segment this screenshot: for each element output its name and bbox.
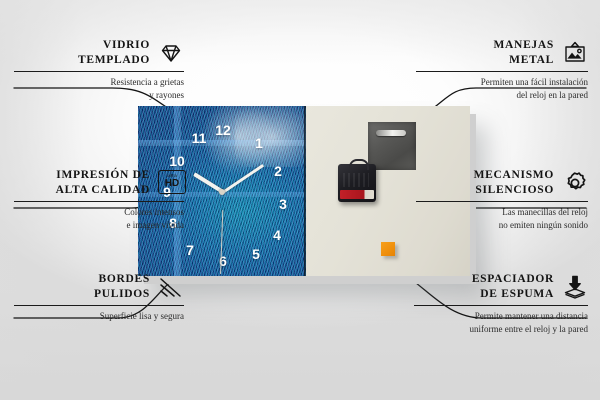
hanger-keyhole-slot xyxy=(376,130,406,136)
feature-callout-impresion-alta-calidad: ultra HD IMPRESIÓN DE ALTA CALIDAD Color… xyxy=(14,168,184,231)
foam-spacer-pad xyxy=(381,242,395,256)
ultra-hd-icon: ultra HD xyxy=(158,170,184,196)
feature-divider xyxy=(416,201,588,202)
diagonal-lines-icon xyxy=(158,274,184,300)
clock-numeral-5: 5 xyxy=(252,247,260,261)
feature-head: BORDES PULIDOS xyxy=(14,272,184,301)
feature-subtitle: Resistencia a grietas y rayones xyxy=(14,76,184,101)
clock-numeral-4: 4 xyxy=(273,228,281,242)
feature-head: MECANISMO SILENCIOSO xyxy=(416,168,588,197)
gear-icon xyxy=(562,170,588,196)
feature-subtitle: Las manecillas del reloj no emiten ningú… xyxy=(416,206,588,231)
feature-head: ultra HD IMPRESIÓN DE ALTA CALIDAD xyxy=(14,168,184,197)
infographic-canvas: 12 1 2 3 4 5 6 7 8 9 10 11 xyxy=(0,0,600,400)
picture-frame-hanger-icon xyxy=(562,40,588,66)
feature-subtitle: Colores intensos e imagen vívida xyxy=(14,206,184,231)
feature-title: IMPRESIÓN DE ALTA CALIDAD xyxy=(56,168,150,197)
clock-face-highlight xyxy=(235,106,306,167)
feature-divider xyxy=(14,71,184,72)
feature-callout-mecanismo-silencioso: MECANISMO SILENCIOSO Las manecillas del … xyxy=(416,168,588,231)
clock-numeral-3: 3 xyxy=(279,197,287,211)
clock-numeral-11: 11 xyxy=(192,131,207,145)
mechanism-body-detail xyxy=(343,173,369,187)
clock-numeral-7: 7 xyxy=(186,243,194,257)
feature-title: MANEJAS METAL xyxy=(416,38,554,67)
feature-divider xyxy=(14,201,184,202)
feature-callout-espaciador-espuma: ESPACIADOR DE ESPUMA Permite mantener un… xyxy=(414,272,588,335)
arrow-onto-layer-icon xyxy=(562,274,588,300)
feature-title: ESPACIADOR DE ESPUMA xyxy=(414,272,554,301)
feature-subtitle: Permite mantener una distancia uniforme … xyxy=(414,310,588,335)
ultra-hd-badge-bottom: HD xyxy=(165,179,179,190)
feature-title: VIDRIO TEMPLADO xyxy=(78,38,150,67)
clock-numeral-1: 1 xyxy=(255,136,263,150)
feature-divider xyxy=(414,305,588,306)
metal-hanger-plate xyxy=(368,122,416,170)
clock-center-cap xyxy=(219,189,225,195)
clock-numeral-12: 12 xyxy=(215,123,231,137)
feature-title: MECANISMO SILENCIOSO xyxy=(416,168,554,197)
ultra-hd-badge: ultra HD xyxy=(158,170,186,194)
feature-divider xyxy=(14,305,184,306)
feature-subtitle: Permiten una fácil instalación del reloj… xyxy=(416,76,588,101)
feature-title: BORDES PULIDOS xyxy=(94,272,150,301)
feature-head: MANEJAS METAL xyxy=(416,38,588,67)
feature-divider xyxy=(416,71,588,72)
feature-subtitle: Superficie lisa y segura xyxy=(14,310,184,322)
clock-mechanism-box xyxy=(338,164,376,202)
mechanism-red-label xyxy=(340,190,374,199)
feature-callout-manejas-metal: MANEJAS METAL Permiten una fácil instala… xyxy=(416,38,588,101)
feature-callout-vidrio-templado: VIDRIO TEMPLADO Resistencia a grietas y … xyxy=(14,38,184,101)
clock-numeral-2: 2 xyxy=(274,164,282,178)
feature-head: ESPACIADOR DE ESPUMA xyxy=(414,272,588,301)
mechanism-hanging-loop xyxy=(349,159,369,170)
feature-head: VIDRIO TEMPLADO xyxy=(14,38,184,67)
diamond-icon xyxy=(158,40,184,66)
feature-callout-bordes-pulidos: BORDES PULIDOS Superficie lisa y segura xyxy=(14,272,184,323)
clock-numeral-10: 10 xyxy=(169,154,185,168)
